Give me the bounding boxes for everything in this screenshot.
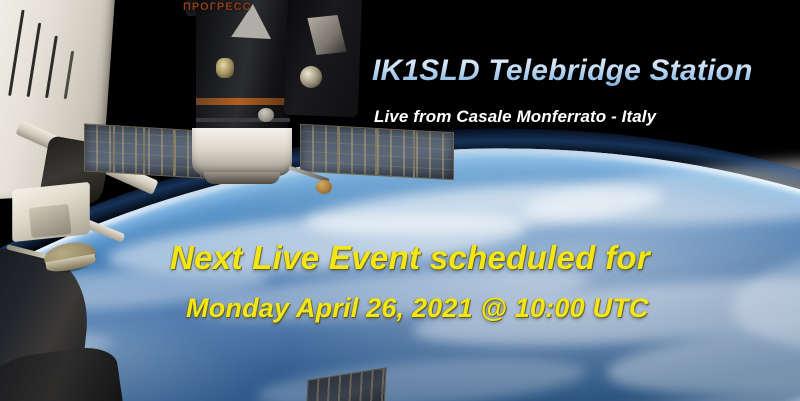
progress-sunlit-panel <box>216 58 234 78</box>
progress-engine-nozzle <box>204 172 280 184</box>
event-datetime: Monday April 26, 2021 @ 10:00 UTC <box>186 293 649 324</box>
solar-array-right <box>300 124 454 181</box>
progress-boom-tip <box>316 180 332 194</box>
progress-orange-band <box>196 98 290 105</box>
station-title: IK1SLD Telebridge Station <box>372 54 753 88</box>
progress-port-fitting <box>258 108 274 122</box>
progress-dark-band <box>196 118 290 122</box>
station-subtitle: Live from Casale Monferrato - Italy <box>374 107 656 127</box>
iss-docking-module-reflection <box>300 66 322 88</box>
event-heading: Next Live Event scheduled for <box>170 239 650 277</box>
progress-white-skirt <box>192 128 292 176</box>
progress-cyrillic-label: ПРОГРЕСС <box>183 1 251 13</box>
iss-telebridge-banner: ПРОГРЕСС IK1SLD Telebridge Station Live … <box>0 0 800 401</box>
solar-array-left <box>84 123 204 178</box>
iss-left-equipment-box-small <box>29 204 72 238</box>
